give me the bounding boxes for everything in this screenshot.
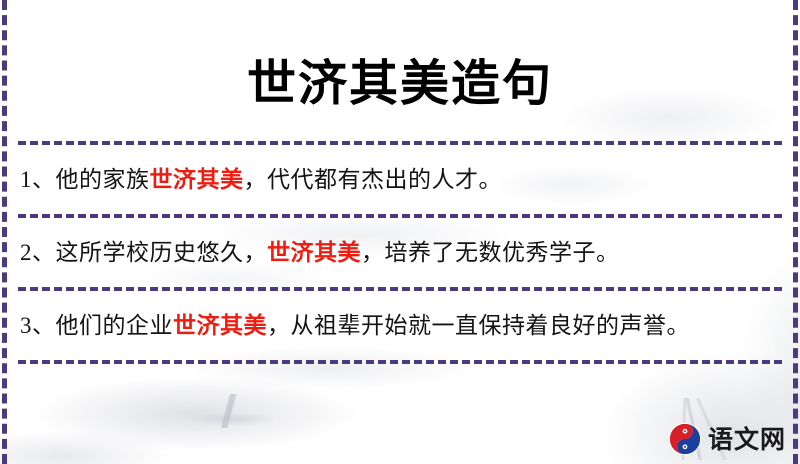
site-watermark-logo: 语文网: [668, 422, 786, 456]
idiom-highlight: 世济其美: [173, 312, 267, 339]
sentence-text-before: 他的家族: [56, 167, 150, 193]
sentence-number: 2、: [20, 240, 56, 265]
right-dashed-border: [793, 0, 798, 464]
idiom-highlight: 世济其美: [267, 239, 361, 266]
left-dashed-border: [2, 0, 7, 464]
sentence-text-before: 他们的企业: [56, 313, 174, 339]
divider-4: [18, 360, 782, 364]
sentence-item-1: 1、他的家族世济其美，代代都有杰出的人才。: [18, 145, 782, 214]
sentence-text-before: 这所学校历史悠久，: [56, 240, 268, 266]
content-column: 世济其美造句 1、他的家族世济其美，代代都有杰出的人才。 2、这所学校历史悠久，…: [18, 0, 782, 464]
sentence-text-after: ，培养了无数优秀学子。: [361, 240, 620, 266]
site-name-label: 语文网: [708, 427, 786, 452]
sentence-text-after: ，从祖辈开始就一直保持着良好的声誉。: [267, 313, 690, 339]
sentence-number: 3、: [20, 313, 56, 338]
sentence-item-2: 2、这所学校历史悠久，世济其美，培养了无数优秀学子。: [18, 218, 782, 287]
idiom-highlight: 世济其美: [150, 166, 244, 193]
yinyang-fish-logo-icon: [668, 422, 702, 456]
sentence-number: 1、: [20, 167, 56, 192]
page-title: 世济其美造句: [18, 33, 782, 108]
sentence-example-page: 世济其美造句 1、他的家族世济其美，代代都有杰出的人才。 2、这所学校历史悠久，…: [0, 0, 800, 464]
sentence-text-after: ，代代都有杰出的人才。: [244, 167, 503, 193]
sentence-item-3: 3、他们的企业世济其美，从祖辈开始就一直保持着良好的声誉。: [18, 291, 782, 360]
